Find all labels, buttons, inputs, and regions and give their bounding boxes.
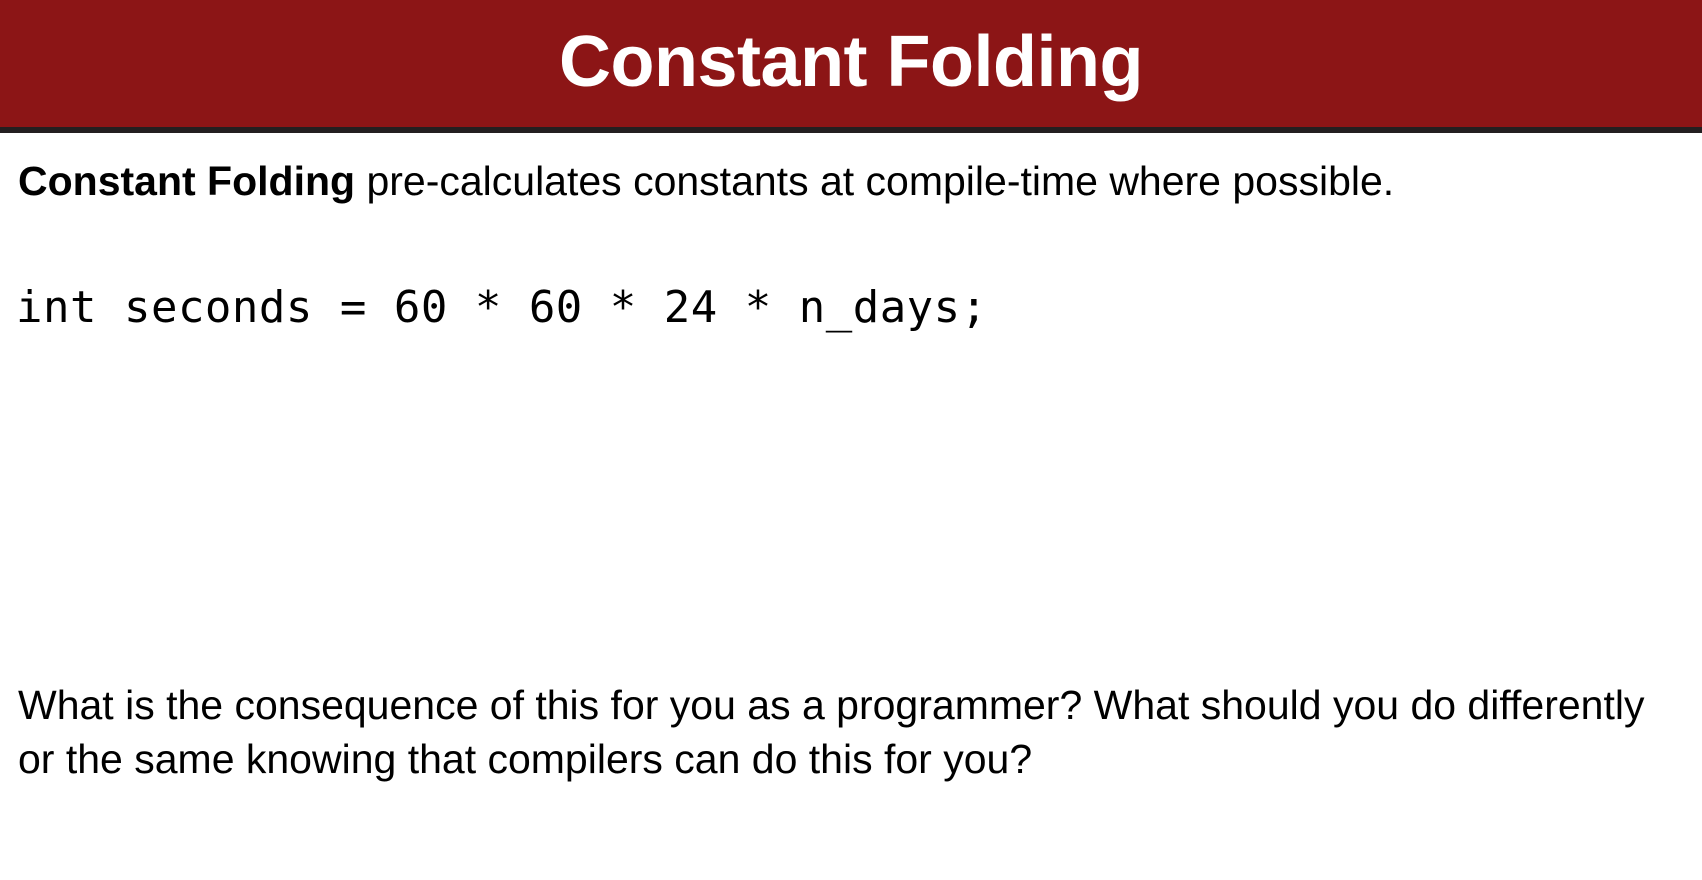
intro-lead-term: Constant Folding bbox=[18, 158, 355, 204]
intro-rest-text: pre-calculates constants at compile-time… bbox=[355, 158, 1394, 204]
slide-body: Constant Folding pre-calculates constant… bbox=[0, 133, 1702, 880]
page-title: Constant Folding bbox=[559, 26, 1143, 98]
question-paragraph: What is the consequence of this for you … bbox=[18, 678, 1690, 786]
title-banner: Constant Folding bbox=[0, 0, 1702, 127]
slide: Constant Folding Constant Folding pre-ca… bbox=[0, 0, 1702, 880]
code-snippet: int seconds = 60 * 60 * 24 * n_days; bbox=[16, 281, 988, 335]
intro-paragraph: Constant Folding pre-calculates constant… bbox=[18, 155, 1688, 207]
